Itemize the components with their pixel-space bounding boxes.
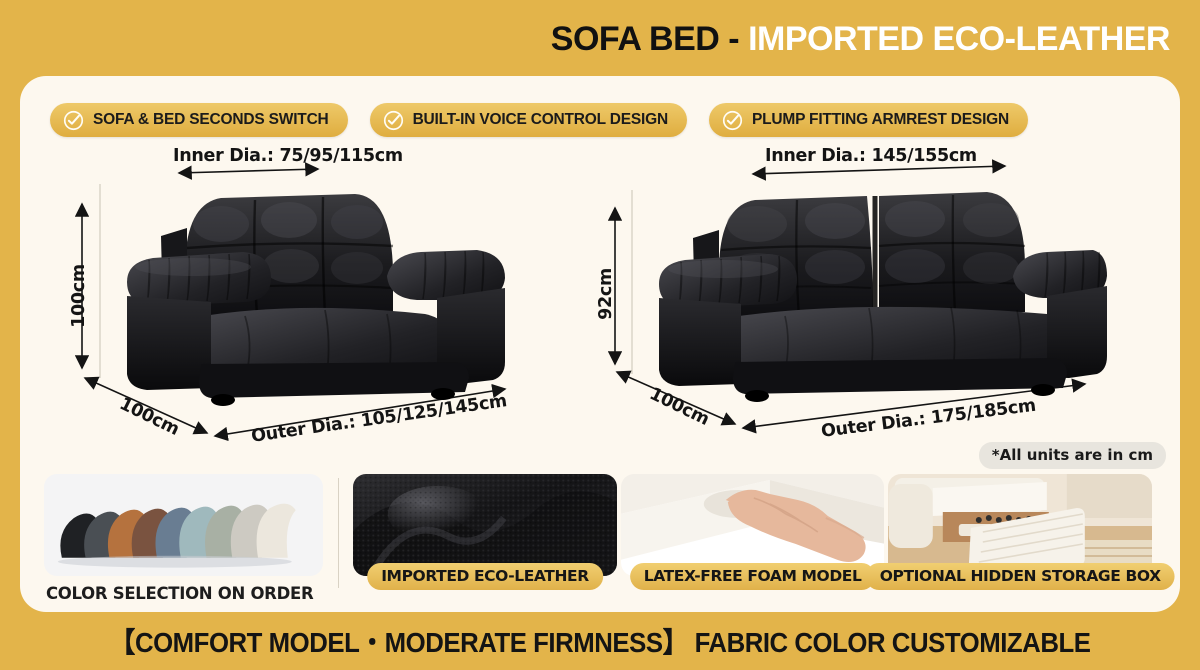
feature-caption: COLOR SELECTION ON ORDER xyxy=(46,584,313,603)
page-header: SOFA BED - IMPORTED ECO-LEATHER xyxy=(0,0,1200,78)
double-seat-sofa-image xyxy=(657,164,1107,414)
hand-pressing-foam-icon xyxy=(621,474,885,576)
feature-imported-eco-leather[interactable]: IMPORTED ECO-LEATHER xyxy=(353,474,617,606)
dimension-diagram: Inner Dia.: 75/95/115cm 100cm 100cm Oute… xyxy=(20,146,1180,466)
content-card: SOFA & BED SECONDS SWITCH BUILT-IN VOICE… xyxy=(20,76,1180,612)
page-title-light: IMPORTED ECO-LEATHER xyxy=(748,20,1170,58)
units-note: *All units are in cm xyxy=(979,442,1166,469)
feature-caption: LATEX-FREE FOAM MODEL xyxy=(630,563,876,590)
sofa-storage-drawer-icon xyxy=(888,474,1152,576)
strip-divider xyxy=(323,474,353,592)
page-title-dark: SOFA BED - xyxy=(551,20,739,58)
feature-caption: IMPORTED ECO-LEATHER xyxy=(367,563,603,590)
feature-badge-voice-control[interactable]: BUILT-IN VOICE CONTROL DESIGN xyxy=(370,103,687,137)
page-footer: 【COMFORT MODEL・MODERATE FIRMNESS】 FABRIC… xyxy=(0,612,1200,670)
feature-badge-row: SOFA & BED SECONDS SWITCH BUILT-IN VOICE… xyxy=(50,103,1028,137)
foam-hand-thumbnail xyxy=(621,474,885,576)
single-seat-sofa-image xyxy=(125,166,525,416)
double-height-dim-label: 92cm xyxy=(596,268,616,320)
color-swatch-thumbnail xyxy=(44,474,323,576)
check-circle-icon xyxy=(722,110,743,131)
leather-texture-thumbnail xyxy=(353,474,617,576)
feature-badge-label: BUILT-IN VOICE CONTROL DESIGN xyxy=(413,111,668,129)
footer-text: 【COMFORT MODEL・MODERATE FIRMNESS】 FABRIC… xyxy=(110,621,1091,661)
check-circle-icon xyxy=(383,110,404,131)
single-height-dim-label: 100cm xyxy=(69,264,89,328)
storage-drawer-thumbnail xyxy=(888,474,1152,576)
single-seat-diagram: Inner Dia.: 75/95/115cm 100cm 100cm Oute… xyxy=(105,146,575,466)
check-circle-icon xyxy=(63,110,84,131)
feature-badge-label: PLUMP FITTING ARMREST DESIGN xyxy=(752,111,1009,129)
feature-color-selection[interactable]: COLOR SELECTION ON ORDER xyxy=(44,474,323,606)
double-seat-diagram: Inner Dia.: 145/155cm 92cm 100cm Outer D… xyxy=(635,146,1135,466)
feature-hidden-storage-box[interactable]: OPTIONAL HIDDEN STORAGE BOX xyxy=(888,474,1152,606)
leather-swatch-fan-icon xyxy=(44,474,323,576)
feature-latex-free-foam[interactable]: LATEX-FREE FOAM MODEL xyxy=(621,474,885,606)
feature-thumbnail-strip: COLOR SELECTION ON ORDER xyxy=(44,474,1156,606)
feature-caption: OPTIONAL HIDDEN STORAGE BOX xyxy=(866,563,1175,590)
feature-badge-label: SOFA & BED SECONDS SWITCH xyxy=(93,111,329,129)
feature-badge-armrest-design[interactable]: PLUMP FITTING ARMREST DESIGN xyxy=(709,103,1028,137)
leather-texture-icon xyxy=(353,474,617,576)
page-title: SOFA BED - IMPORTED ECO-LEATHER xyxy=(551,20,1170,59)
feature-badge-sofa-bed-switch[interactable]: SOFA & BED SECONDS SWITCH xyxy=(50,103,348,137)
